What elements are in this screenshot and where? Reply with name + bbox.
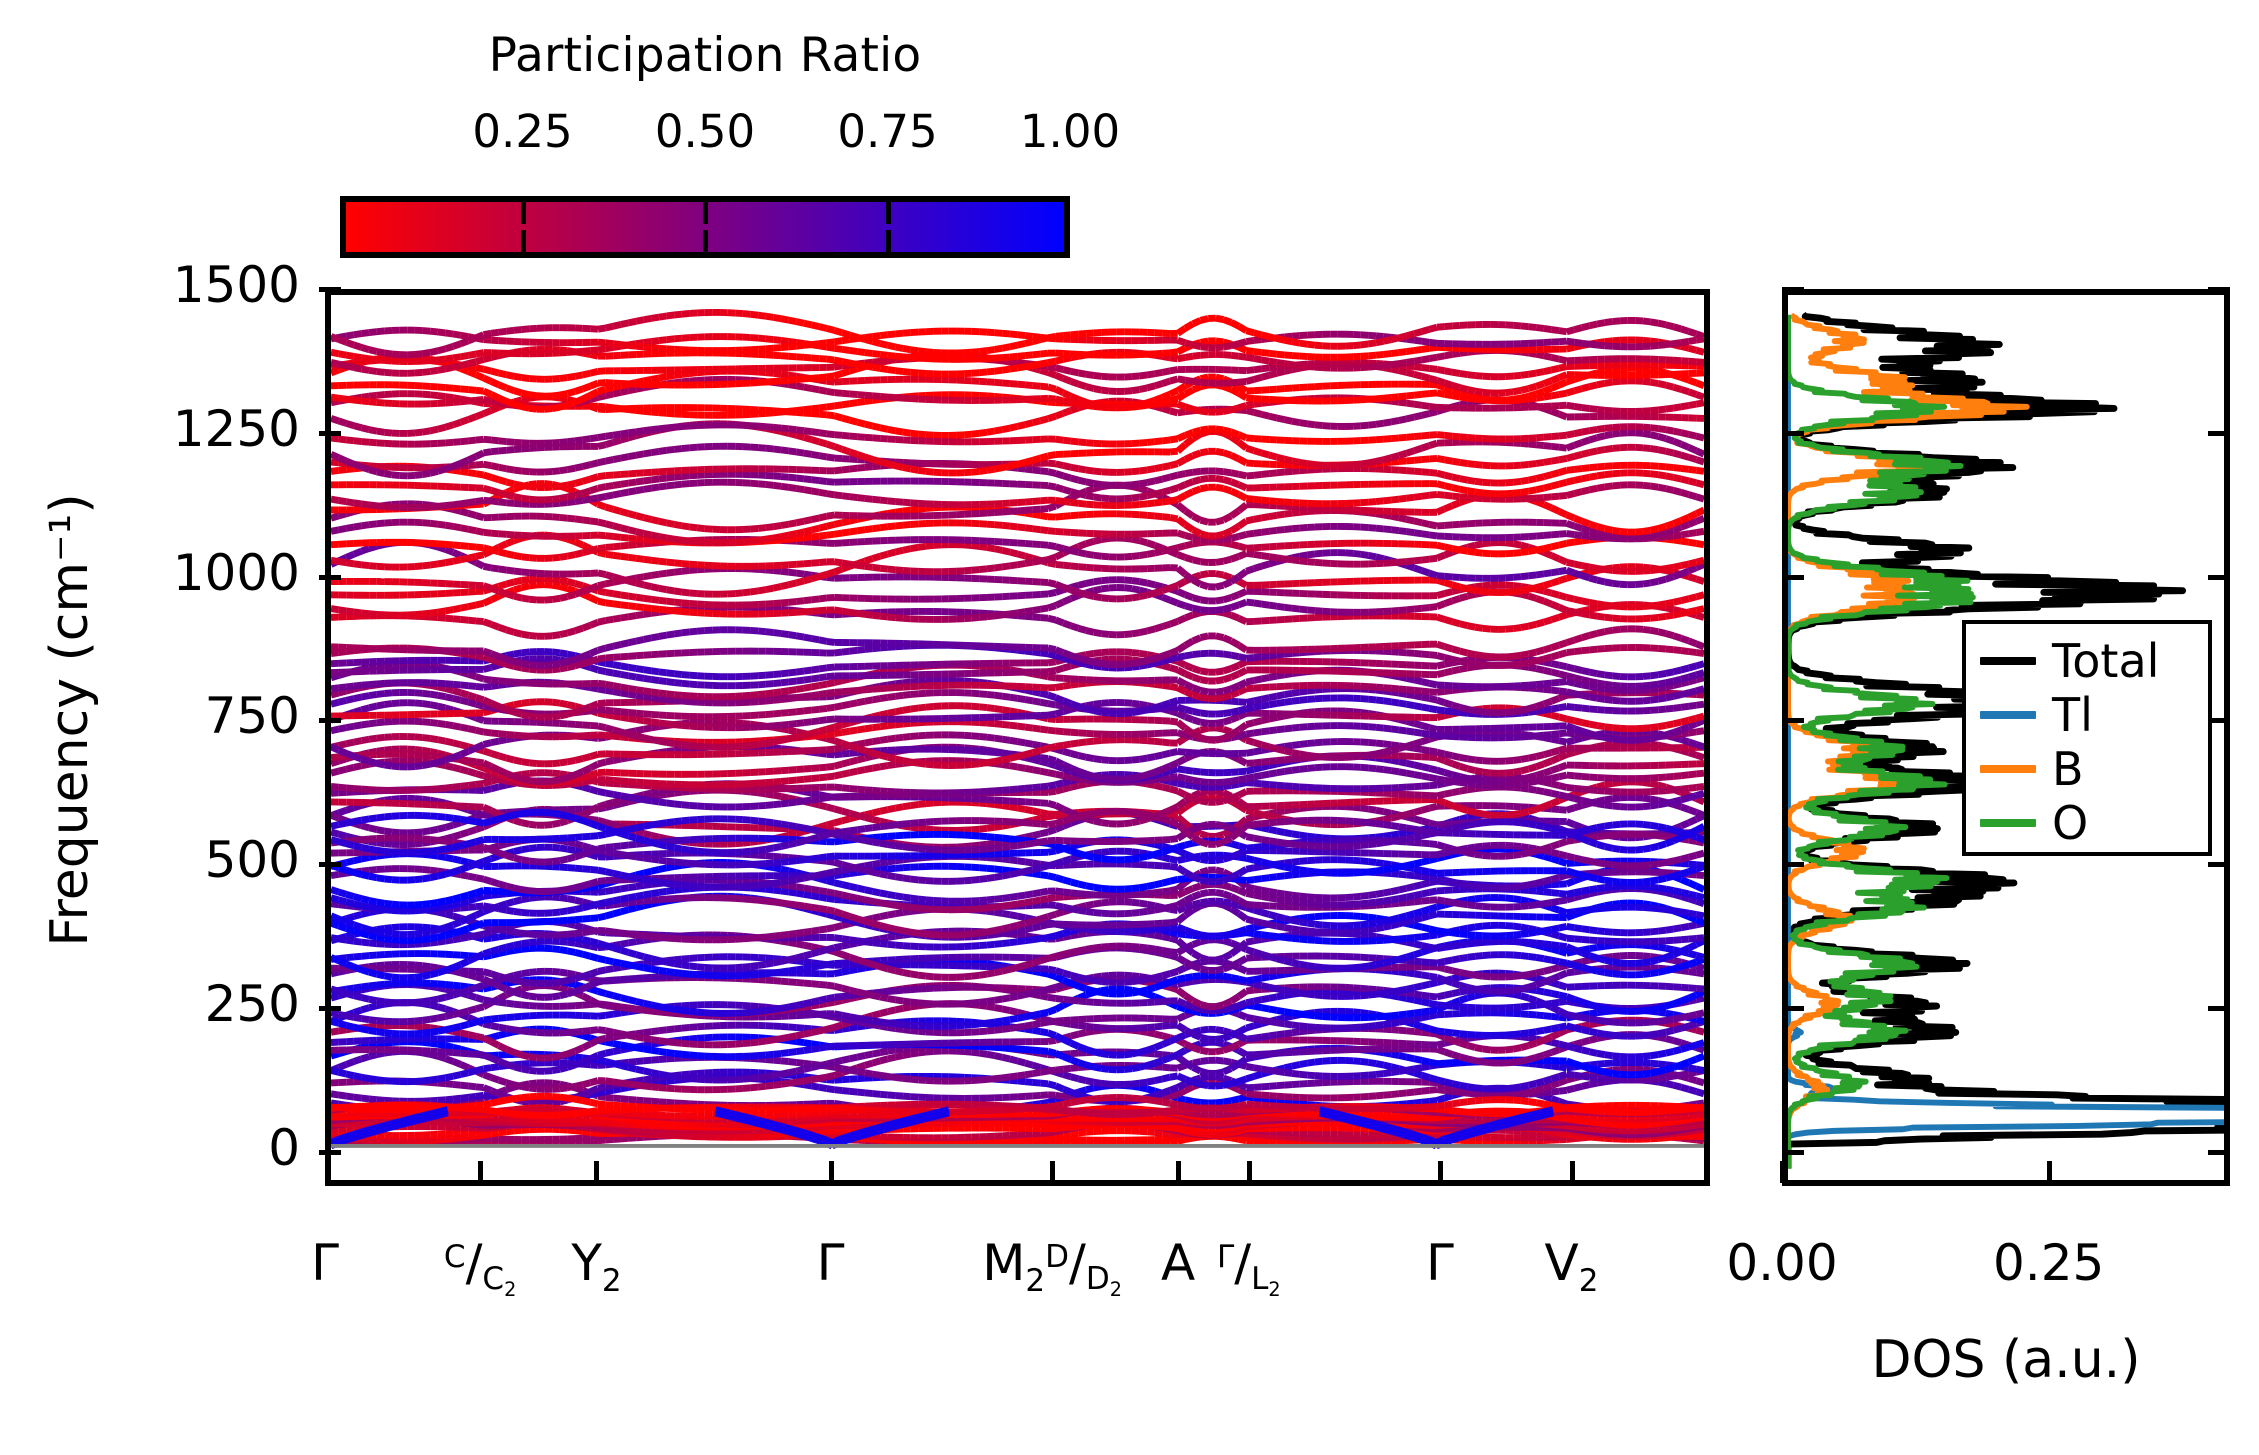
legend-swatch-tl: [1980, 711, 2036, 719]
colorbar-tick-label-0: 0.25: [443, 105, 603, 158]
x-axis-tick-label-8: V2: [1545, 1234, 1599, 1299]
x-axis-tick-label-7: Γ: [1426, 1234, 1454, 1292]
legend-item-b: B: [1966, 742, 2208, 796]
x-axis-tick-mark: [1176, 1161, 1181, 1183]
figure-canvas: Participation Ratio Frequency (cm⁻¹) DOS…: [0, 0, 2259, 1455]
y-axis-tick-mark: [319, 862, 341, 867]
dos-legend: TotalTlBO: [1962, 620, 2212, 856]
colorbar-tick-label-1: 0.50: [625, 105, 785, 158]
dos-x-axis-label: DOS (a.u.): [1782, 1330, 2230, 1390]
x-axis-tick-label-4: M2D/D2: [982, 1234, 1122, 1299]
colorbar-tick-mark: [886, 230, 891, 252]
legend-item-total: Total: [1966, 634, 2208, 688]
y-axis-tick-label-6: 1500: [40, 256, 300, 314]
dos-y-tick-mark: [1782, 431, 1804, 436]
dos-y-tick-mark: [1782, 1150, 1804, 1155]
dos-y-tick-mark: [2208, 862, 2230, 867]
x-axis-tick-label-6: Γ/L2: [1217, 1234, 1281, 1292]
colorbar-title: Participation Ratio: [340, 28, 1070, 83]
x-axis-tick-mark: [1438, 1161, 1443, 1183]
dos-x-tick-label-1: 0.25: [1993, 1234, 2104, 1292]
dos-y-tick-mark: [2208, 718, 2230, 723]
x-axis-tick-label-1: C/C2: [444, 1234, 516, 1292]
dos-x-tick-label-0: 0.00: [1726, 1234, 1837, 1292]
y-axis-tick-label-4: 1000: [40, 544, 300, 602]
legend-item-tl: Tl: [1966, 688, 2208, 742]
y-axis-tick-label-3: 750: [40, 687, 300, 745]
colorbar-tick-mark: [703, 230, 708, 252]
y-axis-tick-mark: [319, 575, 341, 580]
dos-x-tick-mark: [2047, 1161, 2052, 1183]
dos-y-tick-mark: [1782, 718, 1804, 723]
x-axis-tick-mark: [1050, 1161, 1055, 1183]
x-axis-tick-label-2: Y2: [571, 1234, 621, 1299]
y-axis-tick-label-0: 0: [40, 1119, 300, 1177]
dos-y-tick-mark: [1782, 575, 1804, 580]
y-axis-tick-label-5: 1250: [40, 400, 300, 458]
y-axis-tick-mark: [319, 287, 341, 292]
dos-y-tick-mark: [1782, 287, 1804, 292]
legend-swatch-o: [1980, 819, 2036, 827]
x-axis-tick-mark: [1570, 1161, 1575, 1183]
colorbar-tick-label-2: 0.75: [808, 105, 968, 158]
y-axis-tick-label-2: 500: [40, 831, 300, 889]
dos-y-tick-mark: [1782, 1006, 1804, 1011]
dos-y-tick-mark: [2208, 1150, 2230, 1155]
y-axis-tick-mark: [319, 1150, 341, 1155]
legend-swatch-total: [1980, 657, 2036, 665]
x-axis-tick-label-3: Γ: [817, 1234, 845, 1292]
y-axis-tick-mark: [319, 1006, 341, 1011]
colorbar-tick-mark: [886, 202, 891, 224]
legend-label-o: O: [2052, 800, 2088, 846]
colorbar-tick-mark: [703, 202, 708, 224]
legend-label-tl: Tl: [2052, 692, 2093, 738]
band-structure-plot: [331, 295, 1704, 1180]
y-axis-tick-mark: [319, 431, 341, 436]
dos-y-tick-mark: [1782, 862, 1804, 867]
x-axis-tick-mark: [478, 1161, 483, 1183]
legend-label-b: B: [2052, 746, 2084, 792]
x-axis-tick-mark: [1247, 1161, 1252, 1183]
colorbar-tick-mark: [521, 230, 526, 252]
dos-y-tick-mark: [2208, 431, 2230, 436]
legend-swatch-b: [1980, 765, 2036, 773]
x-axis-tick-mark: [829, 1161, 834, 1183]
legend-item-o: O: [1966, 796, 2208, 850]
y-axis-tick-mark: [319, 718, 341, 723]
band-structure-panel: [325, 289, 1710, 1186]
dos-y-tick-mark: [2208, 287, 2230, 292]
dos-y-tick-mark: [2208, 1006, 2230, 1011]
dos-y-tick-mark: [2208, 575, 2230, 580]
colorbar-tick-label-3: 1.00: [990, 105, 1150, 158]
x-axis-tick-mark: [594, 1161, 599, 1183]
legend-label-total: Total: [2052, 638, 2159, 684]
x-axis-tick-label-0: Γ: [311, 1234, 339, 1292]
colorbar-tick-mark: [521, 202, 526, 224]
x-axis-tick-label-5: A: [1161, 1234, 1195, 1292]
y-axis-tick-label-1: 250: [40, 975, 300, 1033]
dos-x-tick-mark: [1780, 1161, 1785, 1183]
